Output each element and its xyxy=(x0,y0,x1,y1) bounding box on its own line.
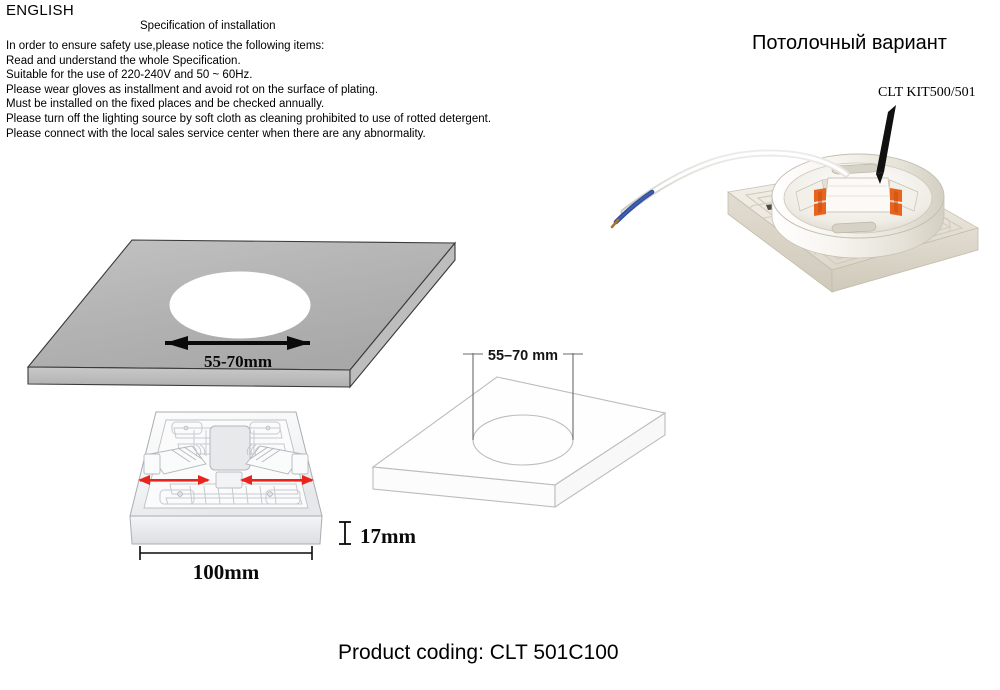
spec-line: Read and understand the whole Specificat… xyxy=(6,54,491,69)
wireframe-dimension-label: 55–70 mm xyxy=(488,348,558,364)
kit-callout-label: CLT KIT500/501 xyxy=(878,85,976,101)
product-illustration: 100mm 17mm xyxy=(120,398,430,588)
cutout-dimension-label: 55-70mm xyxy=(204,352,272,371)
spec-line: Please wear gloves as installment and av… xyxy=(6,83,491,98)
panel-front-face xyxy=(28,367,350,387)
product-front-face xyxy=(130,516,322,544)
terminal-block xyxy=(824,178,892,212)
spec-line: Suitable for the use of 220-240V and 50 … xyxy=(6,68,491,83)
product-figure: 100mm 17mm xyxy=(120,398,430,588)
product-coding-caption: Product coding: CLT 501C100 xyxy=(338,641,619,665)
specification-title: Specification of installation xyxy=(140,20,276,32)
language-label: ENGLISH xyxy=(6,2,74,19)
height-dimension-tick xyxy=(339,522,351,544)
spec-line: Please turn off the lighting source by s… xyxy=(6,112,491,127)
ceiling-mount-figure xyxy=(600,100,1000,330)
spec-line: Must be installed on the fixed places an… xyxy=(6,97,491,112)
driver-block xyxy=(210,426,250,470)
width-dimension-line xyxy=(140,546,312,560)
cutout-hole xyxy=(170,272,310,338)
height-dimension-label: 17mm xyxy=(360,524,416,548)
specification-list: In order to ensure safety use,please not… xyxy=(6,39,491,141)
spec-line: Please connect with the local sales serv… xyxy=(6,127,491,142)
width-dimension-label: 100mm xyxy=(193,560,260,584)
spec-line: In order to ensure safety use,please not… xyxy=(6,39,491,54)
ceiling-variant-heading: Потолочный вариант xyxy=(752,32,947,55)
driver-connector xyxy=(216,472,242,488)
ceiling-mount-illustration xyxy=(600,100,1000,330)
round-housing xyxy=(772,154,944,258)
